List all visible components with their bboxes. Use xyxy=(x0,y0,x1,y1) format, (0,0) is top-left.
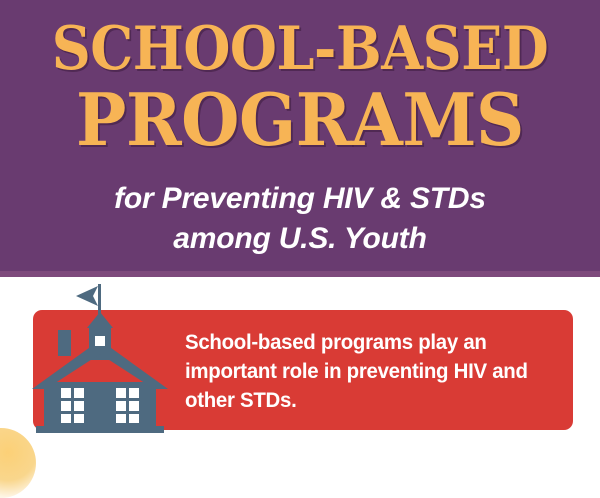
page-subtitle-line-1: for Preventing HIV & STDs xyxy=(0,184,600,214)
schoolhouse-icon xyxy=(14,282,186,434)
page-title-line-1: SCHOOL-BASED xyxy=(30,19,570,79)
page-title-line-2: PROGRAMS xyxy=(21,84,579,156)
callout-text: School-based programs play an important … xyxy=(185,328,541,415)
page-subtitle-line-2: among U.S. Youth xyxy=(0,224,600,254)
